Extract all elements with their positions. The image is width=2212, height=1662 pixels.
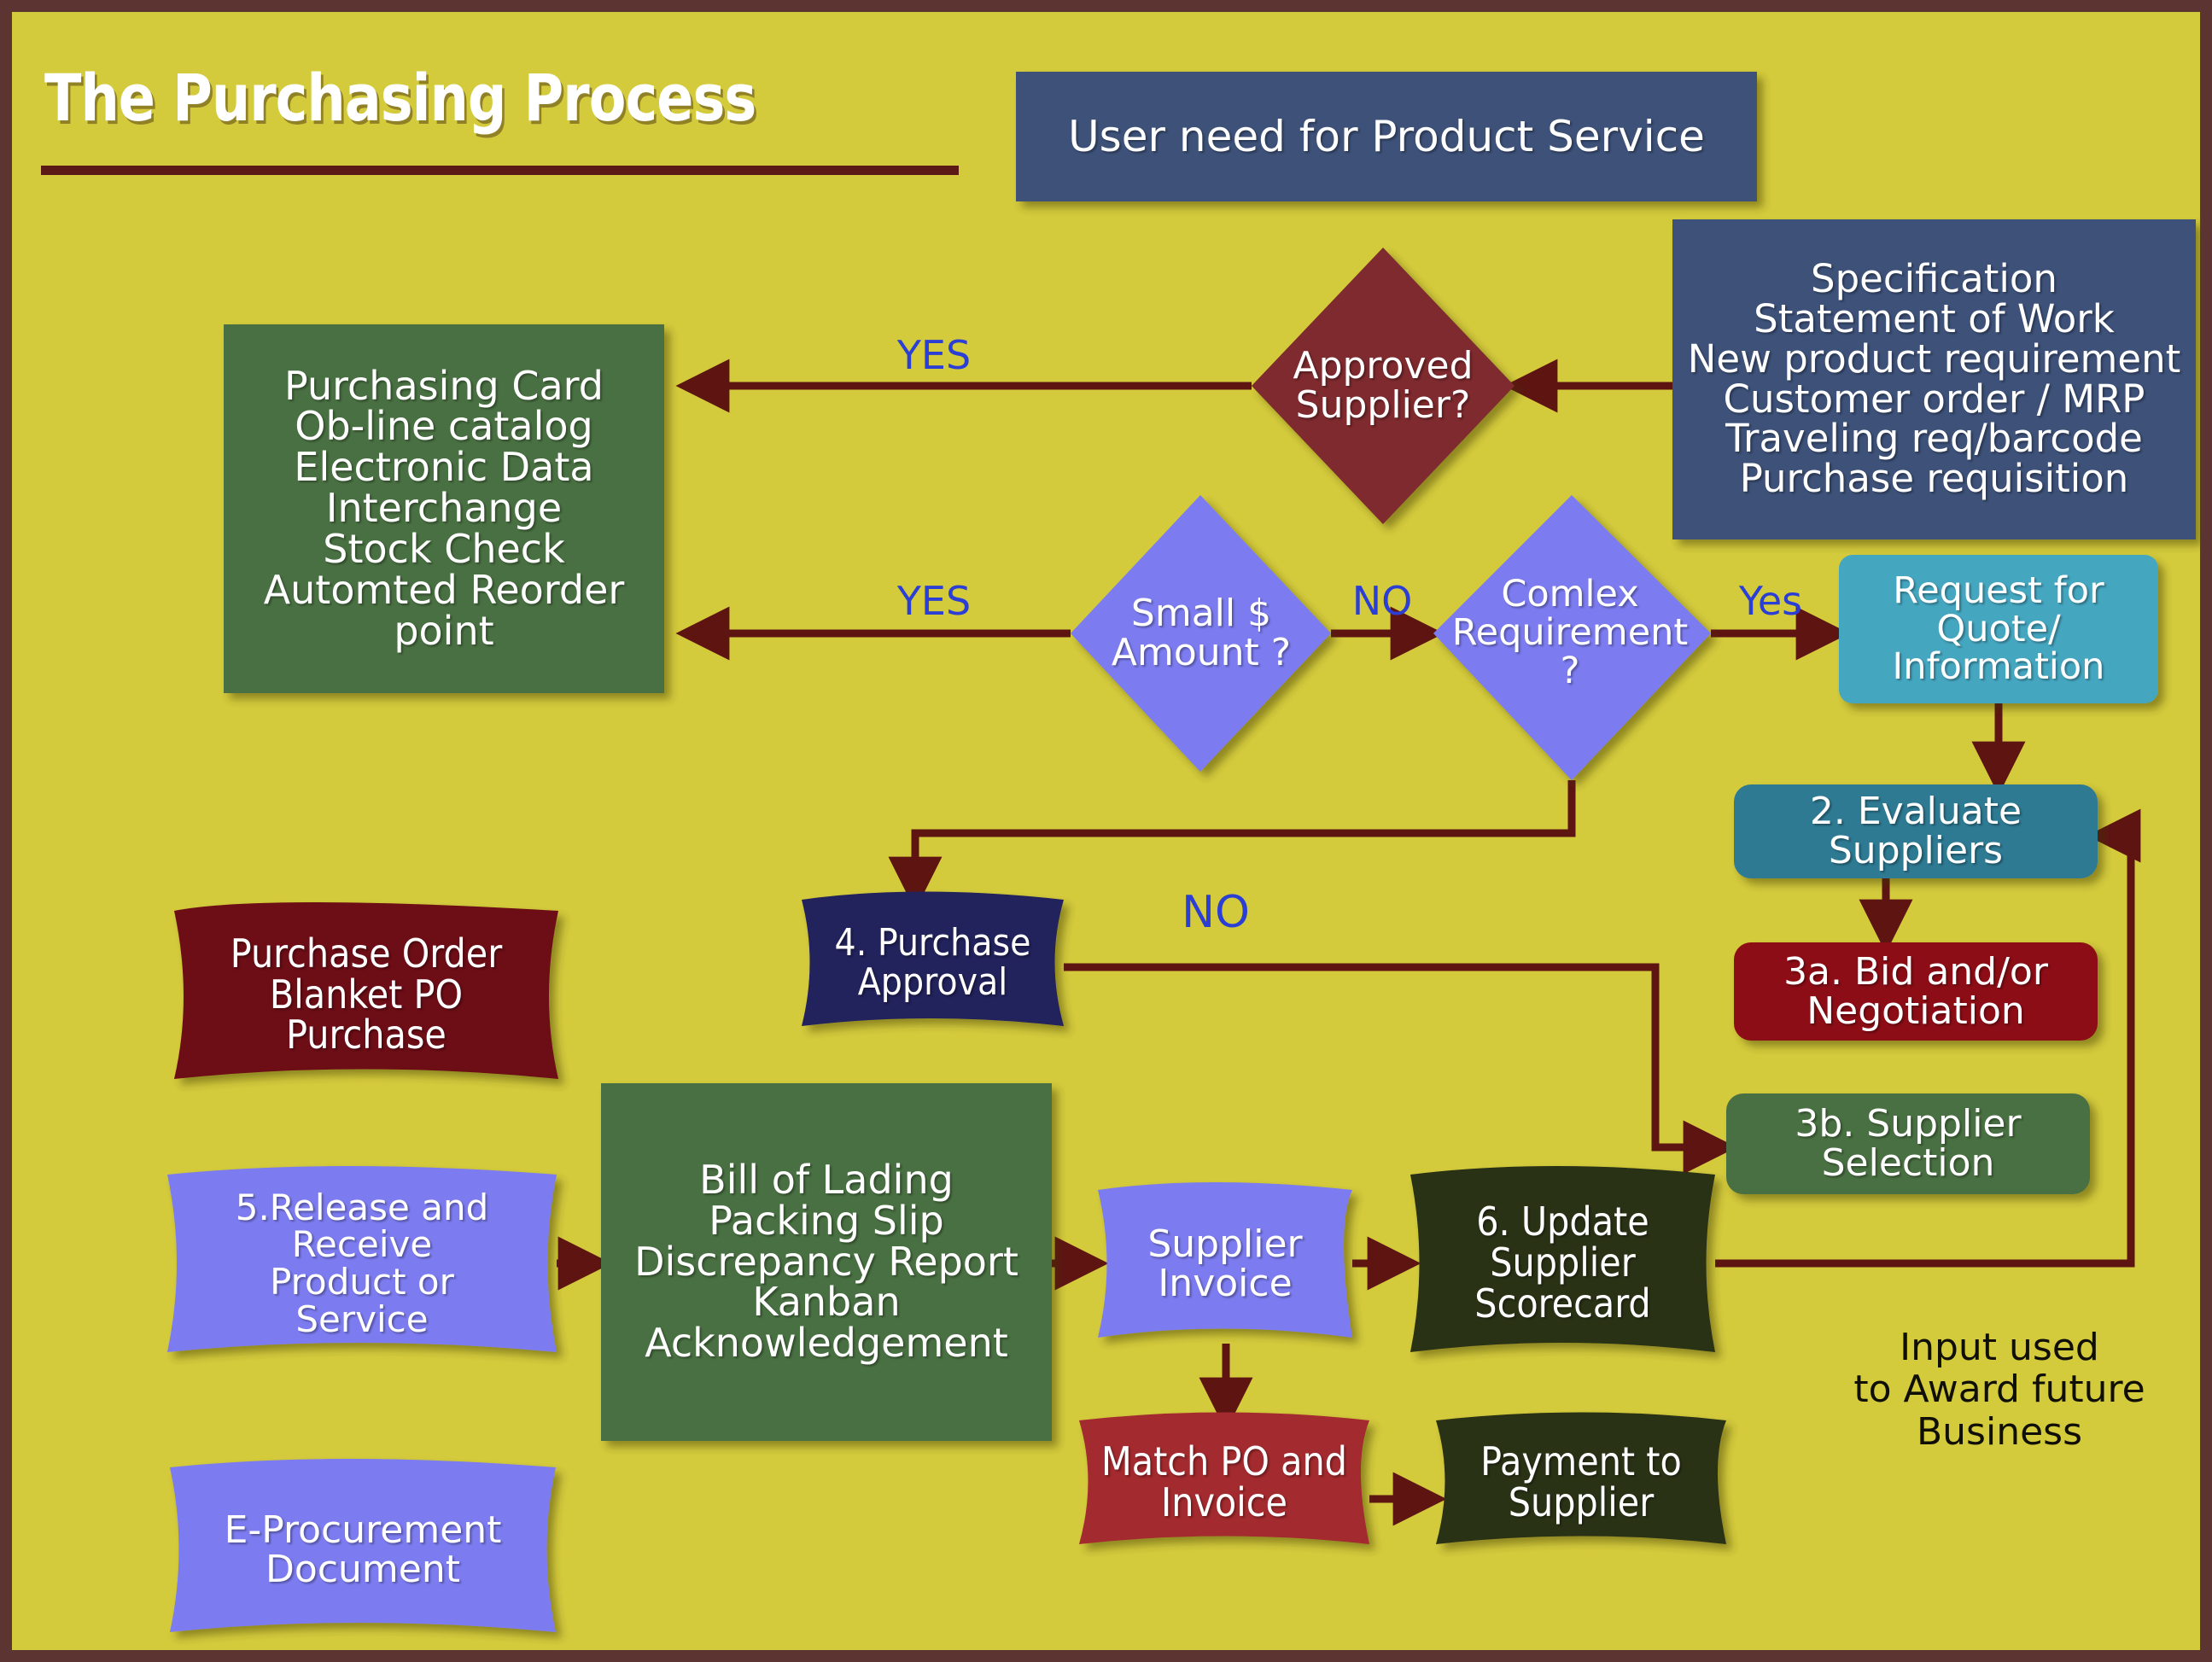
- annotation-award-future-business: Input used to Award future Business: [1786, 1327, 2212, 1453]
- edge-label-approved-yes: YES: [866, 332, 1002, 378]
- shape-complex-requirement[interactable]: [1433, 495, 1711, 780]
- shape-e-procurement[interactable]: [170, 1459, 556, 1632]
- shape-specification[interactable]: [1672, 219, 2196, 539]
- shape-payment-supplier[interactable]: [1436, 1413, 1726, 1545]
- shape-bill-of-lading[interactable]: [601, 1083, 1052, 1441]
- edge-label-complex-yes: Yes: [1715, 578, 1826, 624]
- edge-label-approval-no: NO: [1152, 887, 1280, 938]
- edge-approval-no-to-selection: [1064, 967, 1726, 1147]
- shape-purchase-order[interactable]: [174, 902, 558, 1079]
- edge-scorecard-to-evaluate: [1715, 836, 2131, 1263]
- shape-supplier-invoice[interactable]: [1098, 1182, 1352, 1338]
- flowchart-canvas: The Purchasing Process: [0, 0, 2212, 1662]
- shape-small-amount[interactable]: [1071, 495, 1331, 772]
- shape-evaluate-suppliers[interactable]: [1734, 784, 2098, 878]
- shape-purchase-approval[interactable]: [802, 892, 1064, 1027]
- shape-request-quote[interactable]: [1839, 555, 2158, 703]
- edge-label-small-amount-yes: YES: [866, 578, 1002, 624]
- shape-update-scorecard[interactable]: [1410, 1166, 1715, 1352]
- shape-release-receive[interactable]: [167, 1166, 557, 1352]
- edge-complex-no-to-approval: [915, 780, 1572, 900]
- shape-purchasing-card[interactable]: [224, 324, 664, 693]
- shape-match-po-invoice[interactable]: [1079, 1413, 1369, 1545]
- shape-supplier-selection[interactable]: [1726, 1093, 2090, 1194]
- shape-approved-supplier[interactable]: [1252, 248, 1515, 524]
- shape-user-need[interactable]: [1016, 72, 1757, 201]
- edge-label-small-amount-no: NO: [1331, 578, 1433, 624]
- shape-bid-negotiation[interactable]: [1734, 942, 2098, 1041]
